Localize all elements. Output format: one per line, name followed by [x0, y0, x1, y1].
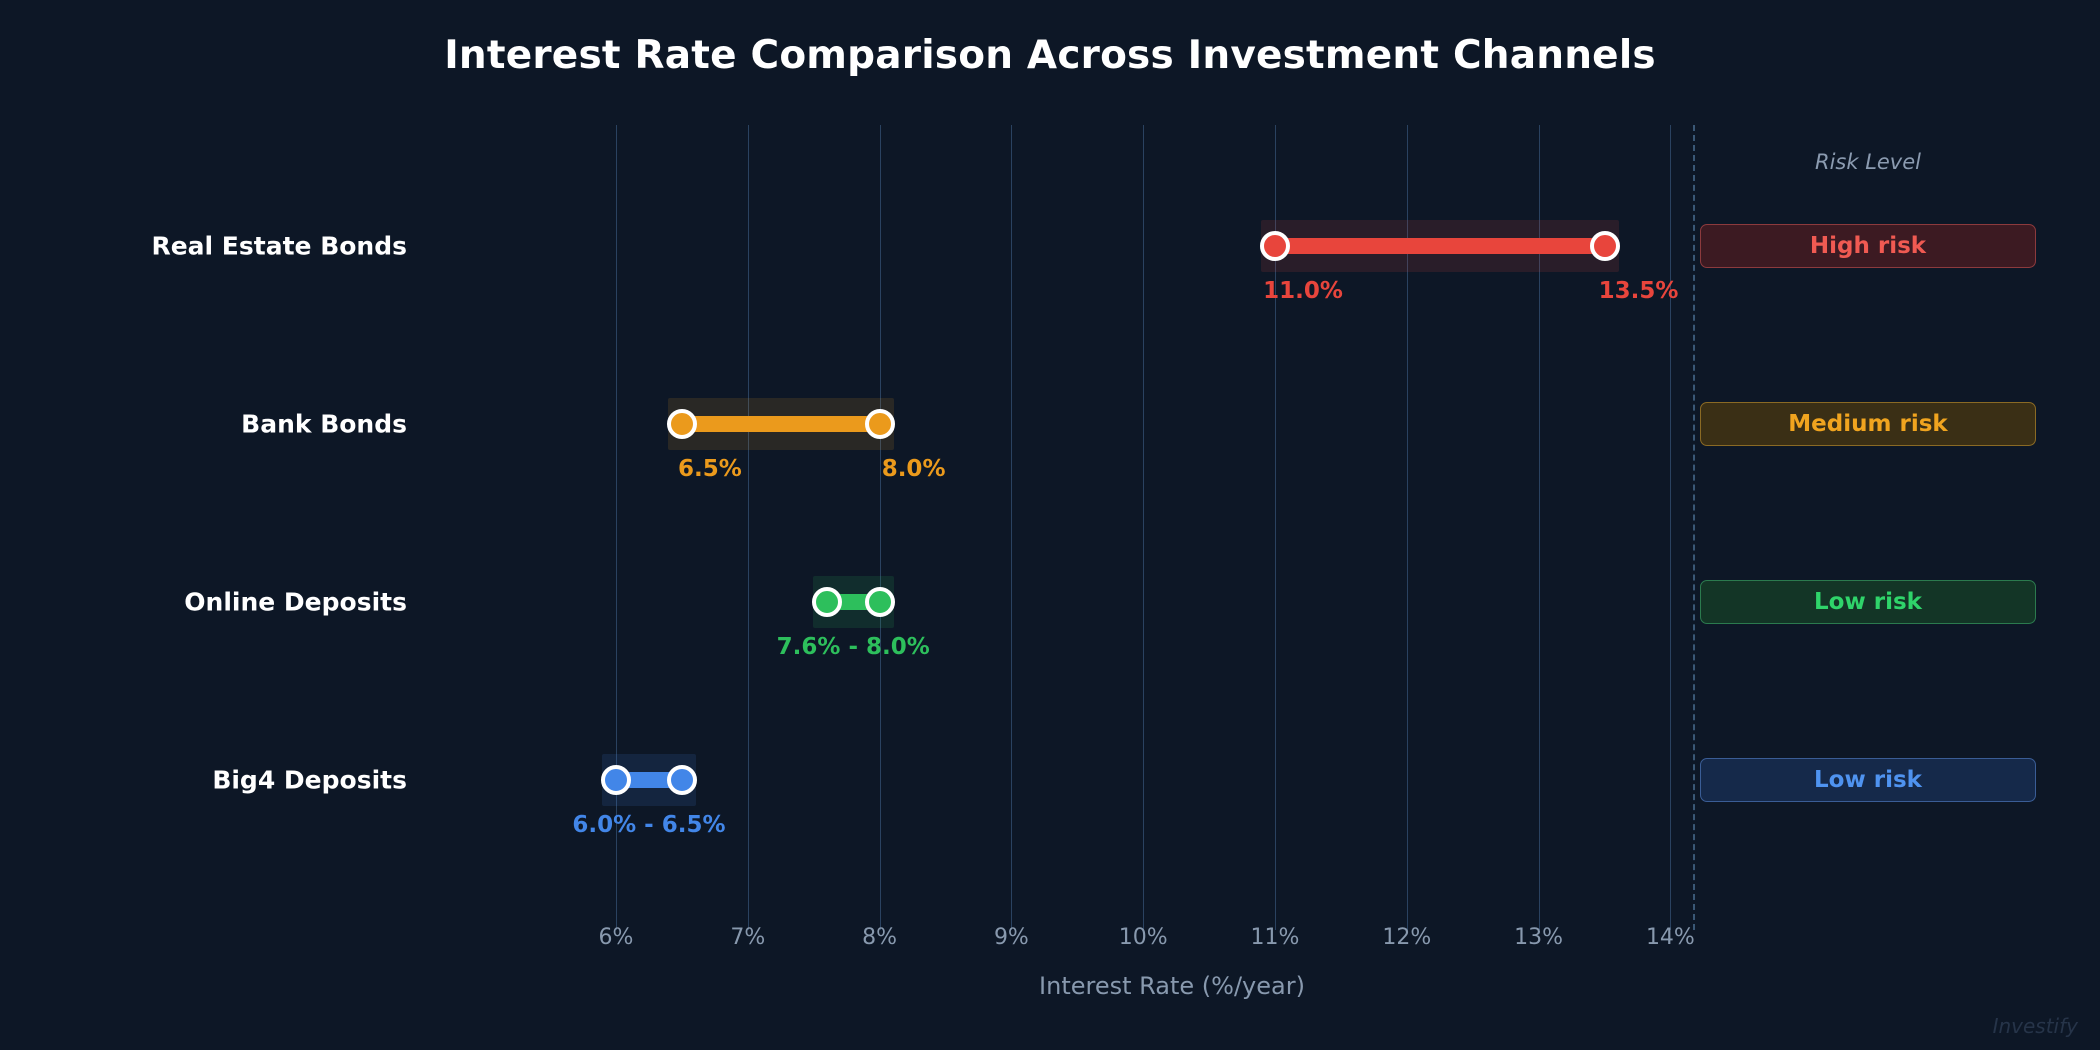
max-value-dot[interactable] [865, 587, 895, 617]
risk-section-divider [1693, 125, 1695, 930]
max-value-label: 13.5% [1599, 278, 1679, 304]
range-value-label: 7.6% - 8.0% [777, 634, 930, 660]
max-value-dot[interactable] [865, 409, 895, 439]
x-tick-label: 7% [730, 925, 765, 950]
chart-title: Interest Rate Comparison Across Investme… [0, 33, 2100, 78]
gridline [880, 125, 881, 930]
min-value-dot[interactable] [667, 409, 697, 439]
gridline [616, 125, 617, 930]
min-value-label: 11.0% [1263, 278, 1343, 304]
range-connector [682, 416, 880, 432]
x-axis-title: Interest Rate (%/year) [616, 972, 1728, 1000]
x-tick-label: 12% [1382, 925, 1431, 950]
min-value-dot[interactable] [812, 587, 842, 617]
gridline [748, 125, 749, 930]
risk-badge[interactable]: Medium risk [1700, 402, 2036, 446]
range-value-label: 6.0% - 6.5% [572, 812, 725, 838]
watermark: Investify [1993, 1014, 2078, 1038]
min-value-label: 6.5% [678, 456, 742, 482]
max-value-label: 8.0% [882, 456, 946, 482]
gridline [1143, 125, 1144, 930]
chart-container: Interest Rate Comparison Across Investme… [0, 0, 2100, 1050]
category-label: Big4 Deposits [212, 766, 407, 795]
risk-level-column-header: Risk Level [1700, 150, 2036, 174]
x-tick-label: 14% [1646, 925, 1695, 950]
risk-badge[interactable]: Low risk [1700, 758, 2036, 802]
category-label: Online Deposits [184, 588, 407, 617]
min-value-dot[interactable] [601, 765, 631, 795]
x-tick-label: 10% [1119, 925, 1168, 950]
category-label: Bank Bonds [241, 410, 407, 439]
risk-badge[interactable]: High risk [1700, 224, 2036, 268]
gridline [1011, 125, 1012, 930]
x-tick-label: 13% [1514, 925, 1563, 950]
range-connector [1275, 238, 1605, 254]
x-tick-label: 11% [1251, 925, 1300, 950]
max-value-dot[interactable] [667, 765, 697, 795]
min-value-dot[interactable] [1260, 231, 1290, 261]
x-tick-label: 8% [862, 925, 897, 950]
max-value-dot[interactable] [1590, 231, 1620, 261]
x-tick-label: 6% [599, 925, 634, 950]
gridline [1670, 125, 1671, 930]
category-label: Real Estate Bonds [151, 232, 407, 261]
x-tick-label: 9% [994, 925, 1029, 950]
risk-badge[interactable]: Low risk [1700, 580, 2036, 624]
